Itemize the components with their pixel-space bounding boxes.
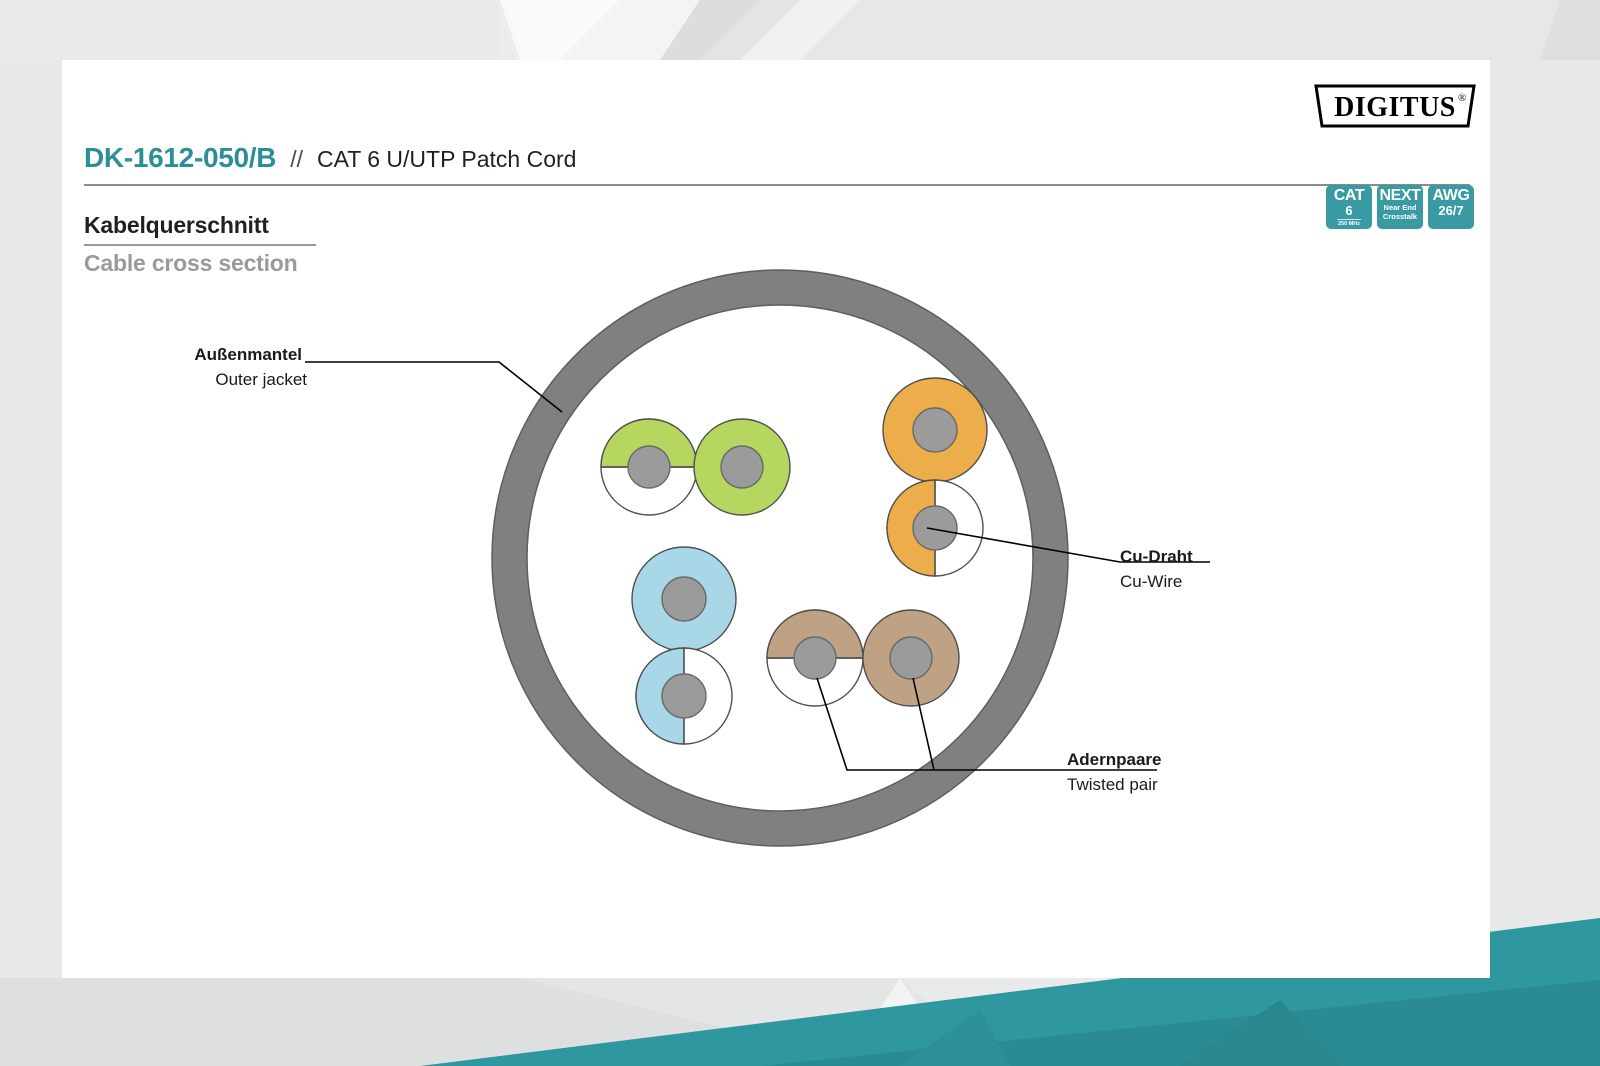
- orange-striped-conductor: [913, 506, 957, 550]
- cu-wire-label-en: Cu-Wire: [1120, 572, 1182, 591]
- green-solid-conductor: [721, 446, 763, 488]
- green-solid-wire: [694, 419, 790, 515]
- cable-cross-section-diagram: Außenmantel Outer jacket Cu-Draht Cu-Wir…: [62, 60, 1490, 978]
- blue-solid-conductor: [662, 577, 706, 621]
- blue-striped-wire: [636, 648, 732, 744]
- brown-solid-wire: [863, 610, 959, 706]
- twisted-pair-label-en: Twisted pair: [1067, 775, 1158, 794]
- cu-wire-label-de: Cu-Draht: [1120, 547, 1193, 566]
- outer-jacket-label-de: Außenmantel: [194, 345, 302, 364]
- brown-solid-conductor: [890, 637, 932, 679]
- leader-outer-jacket: [305, 362, 562, 412]
- brown-striped-conductor: [794, 637, 836, 679]
- brown-striped-wire: [767, 610, 863, 706]
- green-striped-conductor: [628, 446, 670, 488]
- blue-striped-conductor: [662, 674, 706, 718]
- orange-solid-wire: [883, 378, 987, 482]
- green-striped-wire: [601, 419, 697, 515]
- outer-jacket-ring: [492, 270, 1068, 846]
- content-card: DIGITUS ® DK-1612-050/B // CAT 6 U/UTP P…: [62, 60, 1490, 978]
- orange-striped-wire: [887, 480, 983, 576]
- outer-jacket-label-en: Outer jacket: [215, 370, 307, 389]
- orange-solid-conductor: [913, 408, 957, 452]
- twisted-pair-label-de: Adernpaare: [1067, 750, 1161, 769]
- blue-solid-wire: [632, 547, 736, 651]
